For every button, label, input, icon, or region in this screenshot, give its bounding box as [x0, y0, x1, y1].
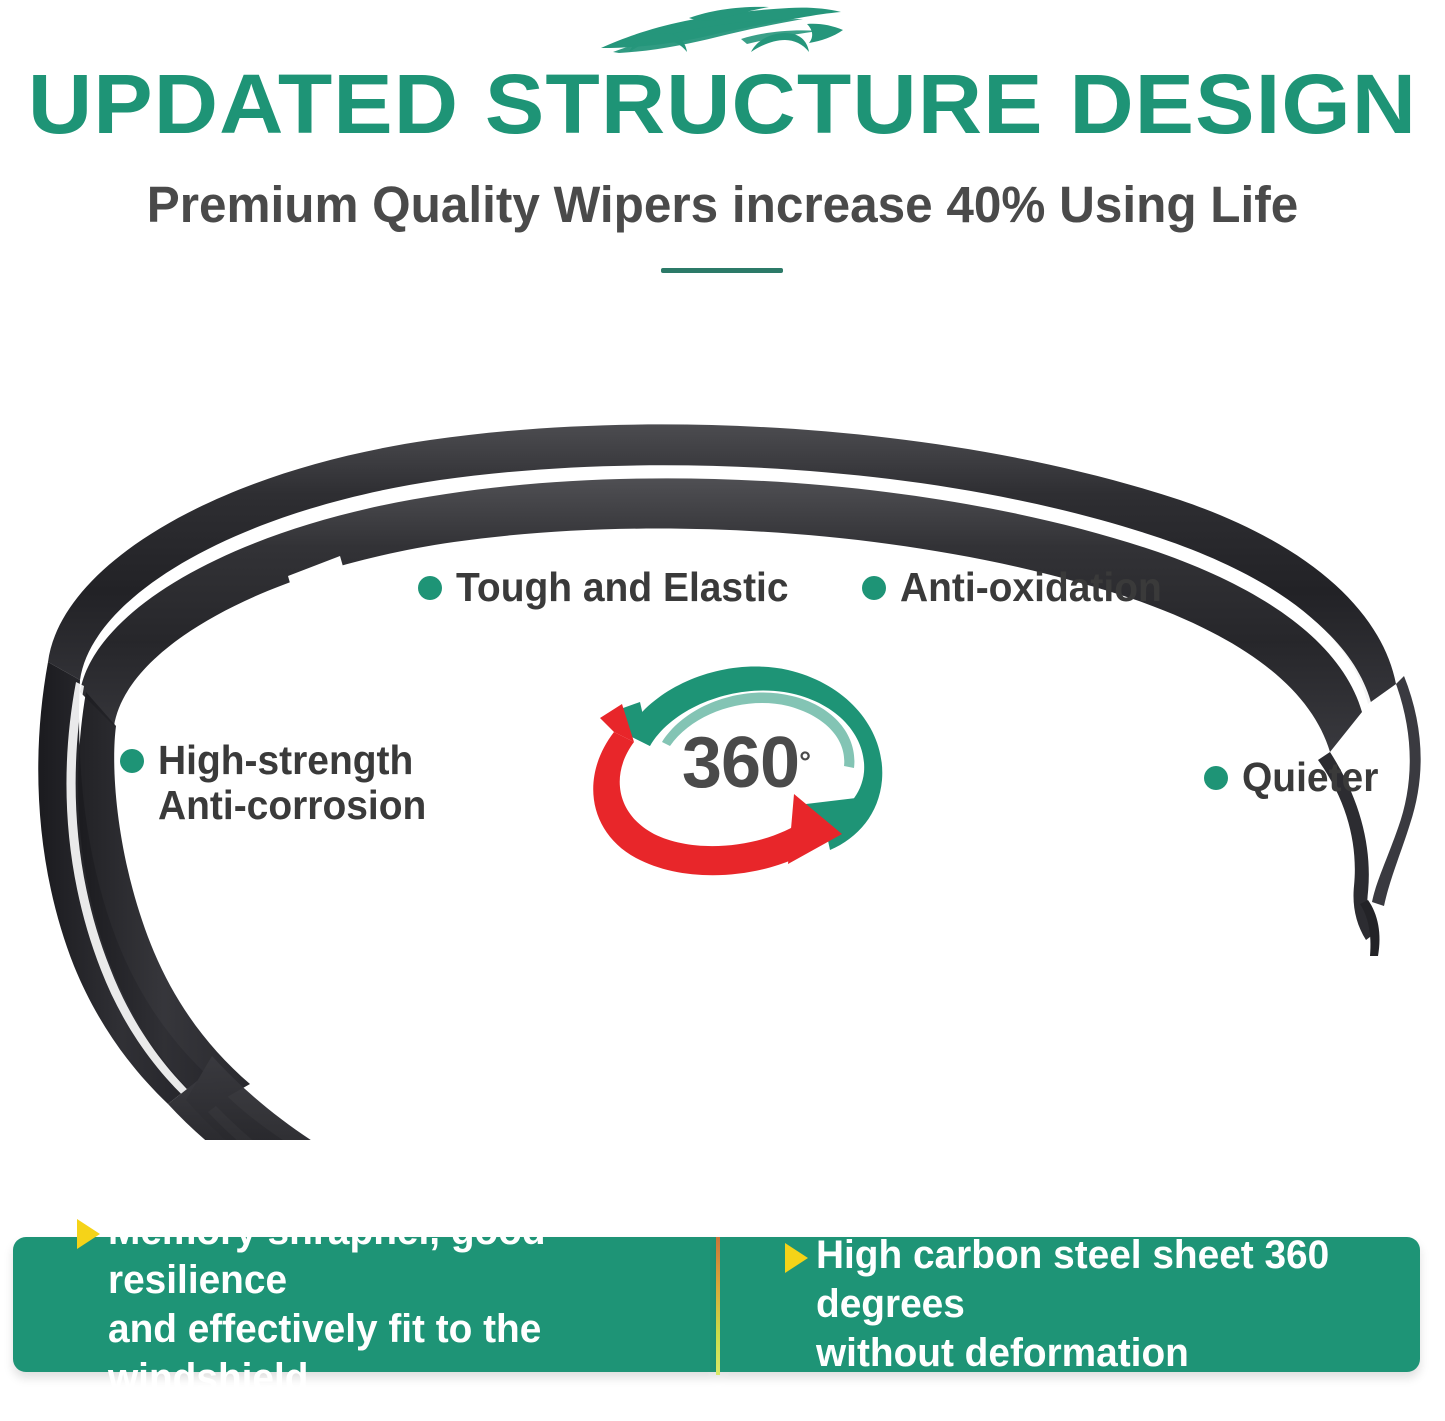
callout-tough-and-elastic: Tough and Elastic: [418, 565, 806, 610]
bullet-dot-icon: [418, 576, 442, 600]
feature-banner-memory-shrapnel: Memory shrapnel, good resilience and eff…: [13, 1237, 718, 1372]
feature-banner-high-carbon-steel: High carbon steel sheet 360 degrees with…: [719, 1237, 1420, 1372]
callout-label: High-strength Anti-corrosion: [158, 738, 426, 828]
banner-text: Memory shrapnel, good resilience and eff…: [108, 1207, 700, 1403]
badge-value: 360°: [566, 648, 914, 878]
callout-label: Quieter: [1242, 755, 1378, 800]
callout-high-strength-anti-corrosion: High-strength Anti-corrosion: [120, 738, 440, 828]
callout-label: Anti-oxidation: [900, 565, 1162, 610]
banner-text: High carbon steel sheet 360 degrees with…: [816, 1231, 1402, 1378]
callout-label: Tough and Elastic: [456, 565, 789, 610]
bullet-dot-icon: [1204, 766, 1228, 790]
bullet-dot-icon: [120, 749, 144, 773]
triangle-bullet-icon: [785, 1243, 808, 1273]
banner-divider: [716, 1237, 720, 1375]
page-title: UPDATED STRUCTURE DESIGN: [0, 62, 1445, 146]
bullet-dot-icon: [862, 576, 886, 600]
page-subtitle: Premium Quality Wipers increase 40% Usin…: [22, 176, 1424, 234]
title-divider: [661, 268, 783, 273]
marketing-infographic: UPDATED STRUCTURE DESIGN Premium Quality…: [0, 0, 1445, 1421]
360-rotation-badge: 360°: [566, 648, 914, 878]
car-silhouette-logo-icon: [593, 4, 853, 60]
triangle-bullet-icon: [77, 1219, 100, 1249]
callout-anti-oxidation: Anti-oxidation: [862, 565, 1176, 610]
callout-quieter: Quieter: [1204, 755, 1386, 800]
